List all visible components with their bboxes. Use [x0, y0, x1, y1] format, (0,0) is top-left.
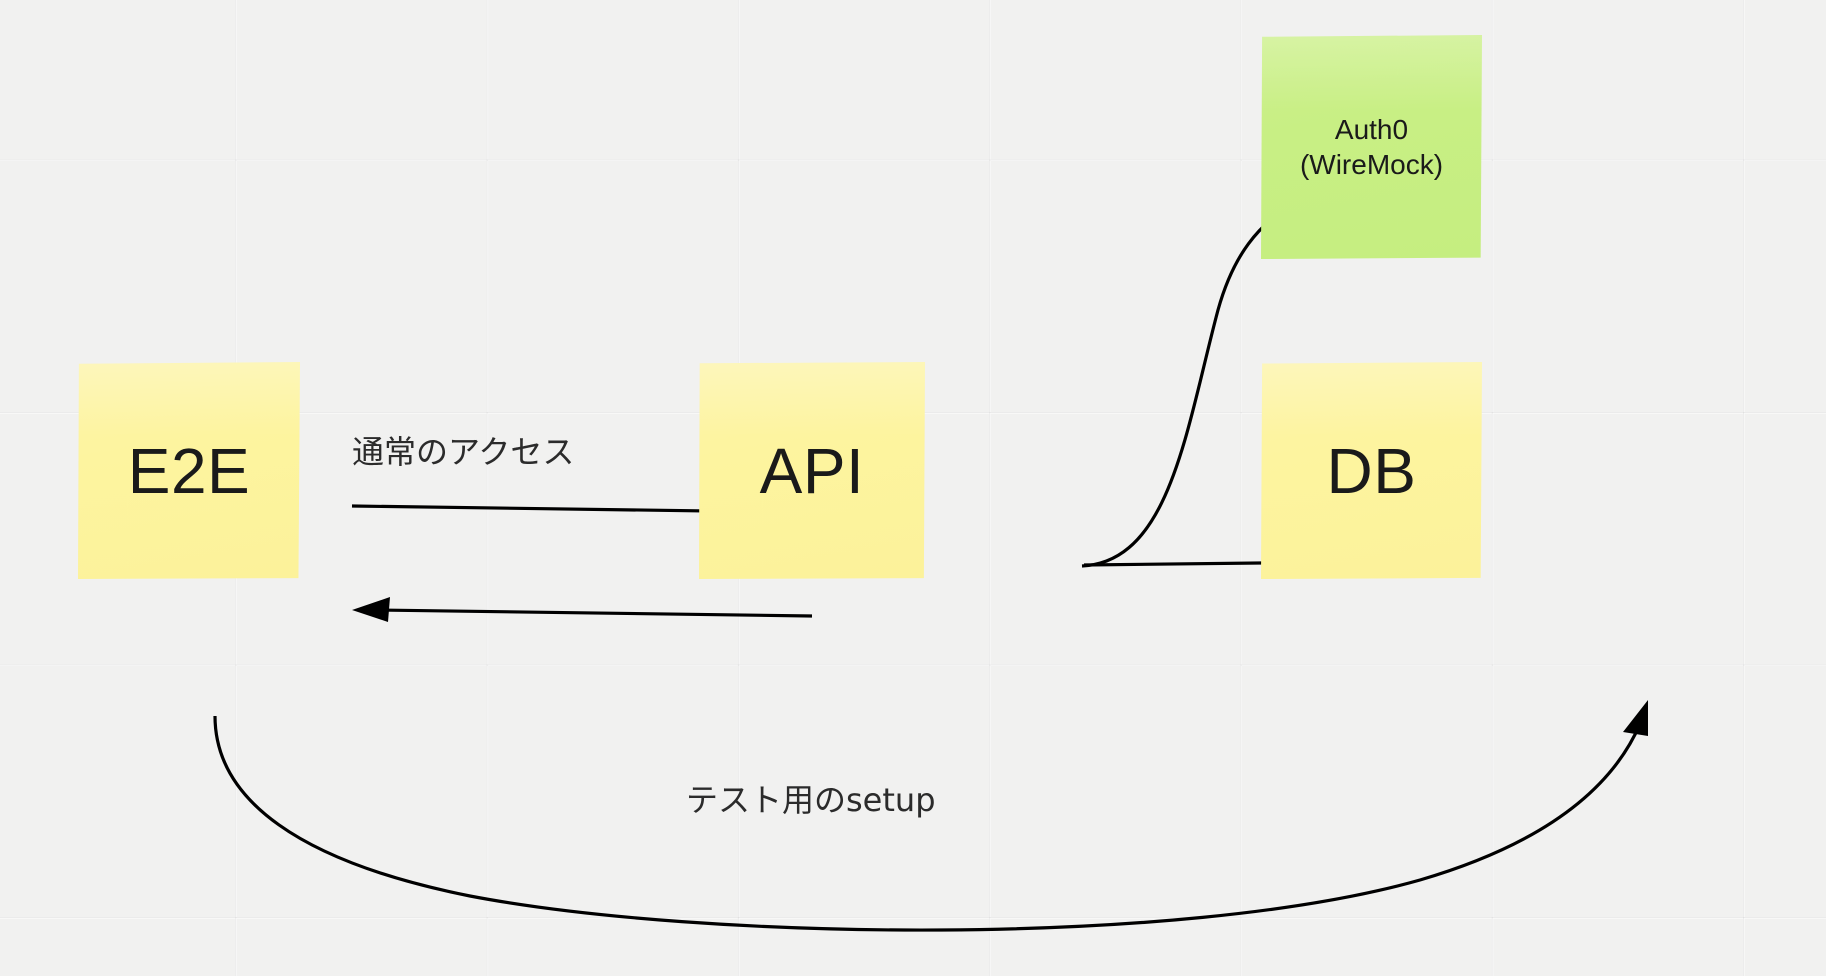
edge-label-test-setup: テスト用のsetup: [686, 775, 936, 821]
arrowhead-icon: [1623, 700, 1648, 736]
sticky-note-auth0-label: Auth0 (WireMock): [1261, 112, 1482, 182]
sticky-note-db-label: DB: [1261, 431, 1482, 511]
note-sheen: [1261, 35, 1482, 111]
whiteboard-canvas[interactable]: E2E API DB Auth0 (WireMock) 通常のアクセス テスト用…: [0, 0, 1826, 976]
sticky-note-api[interactable]: API: [699, 362, 925, 579]
sticky-note-db[interactable]: DB: [1261, 362, 1482, 579]
note-sheen: [1261, 362, 1482, 436]
sticky-note-auth0-label-line2: (WireMock): [1269, 147, 1474, 182]
arrowhead-icon: [352, 597, 390, 622]
sticky-note-auth0-label-line1: Auth0: [1269, 112, 1474, 147]
sticky-note-auth0[interactable]: Auth0 (WireMock): [1261, 35, 1482, 259]
sticky-note-api-label: API: [699, 431, 925, 511]
note-sheen: [78, 362, 300, 436]
edge-line: [215, 716, 1640, 930]
edge-line: [378, 610, 812, 616]
sticky-note-e2e[interactable]: E2E: [78, 362, 300, 579]
edge-label-normal-access: 通常のアクセス: [352, 427, 574, 473]
note-sheen: [699, 362, 925, 436]
sticky-note-e2e-label: E2E: [78, 431, 300, 511]
edge-api-to-e2e[interactable]: [352, 597, 812, 622]
